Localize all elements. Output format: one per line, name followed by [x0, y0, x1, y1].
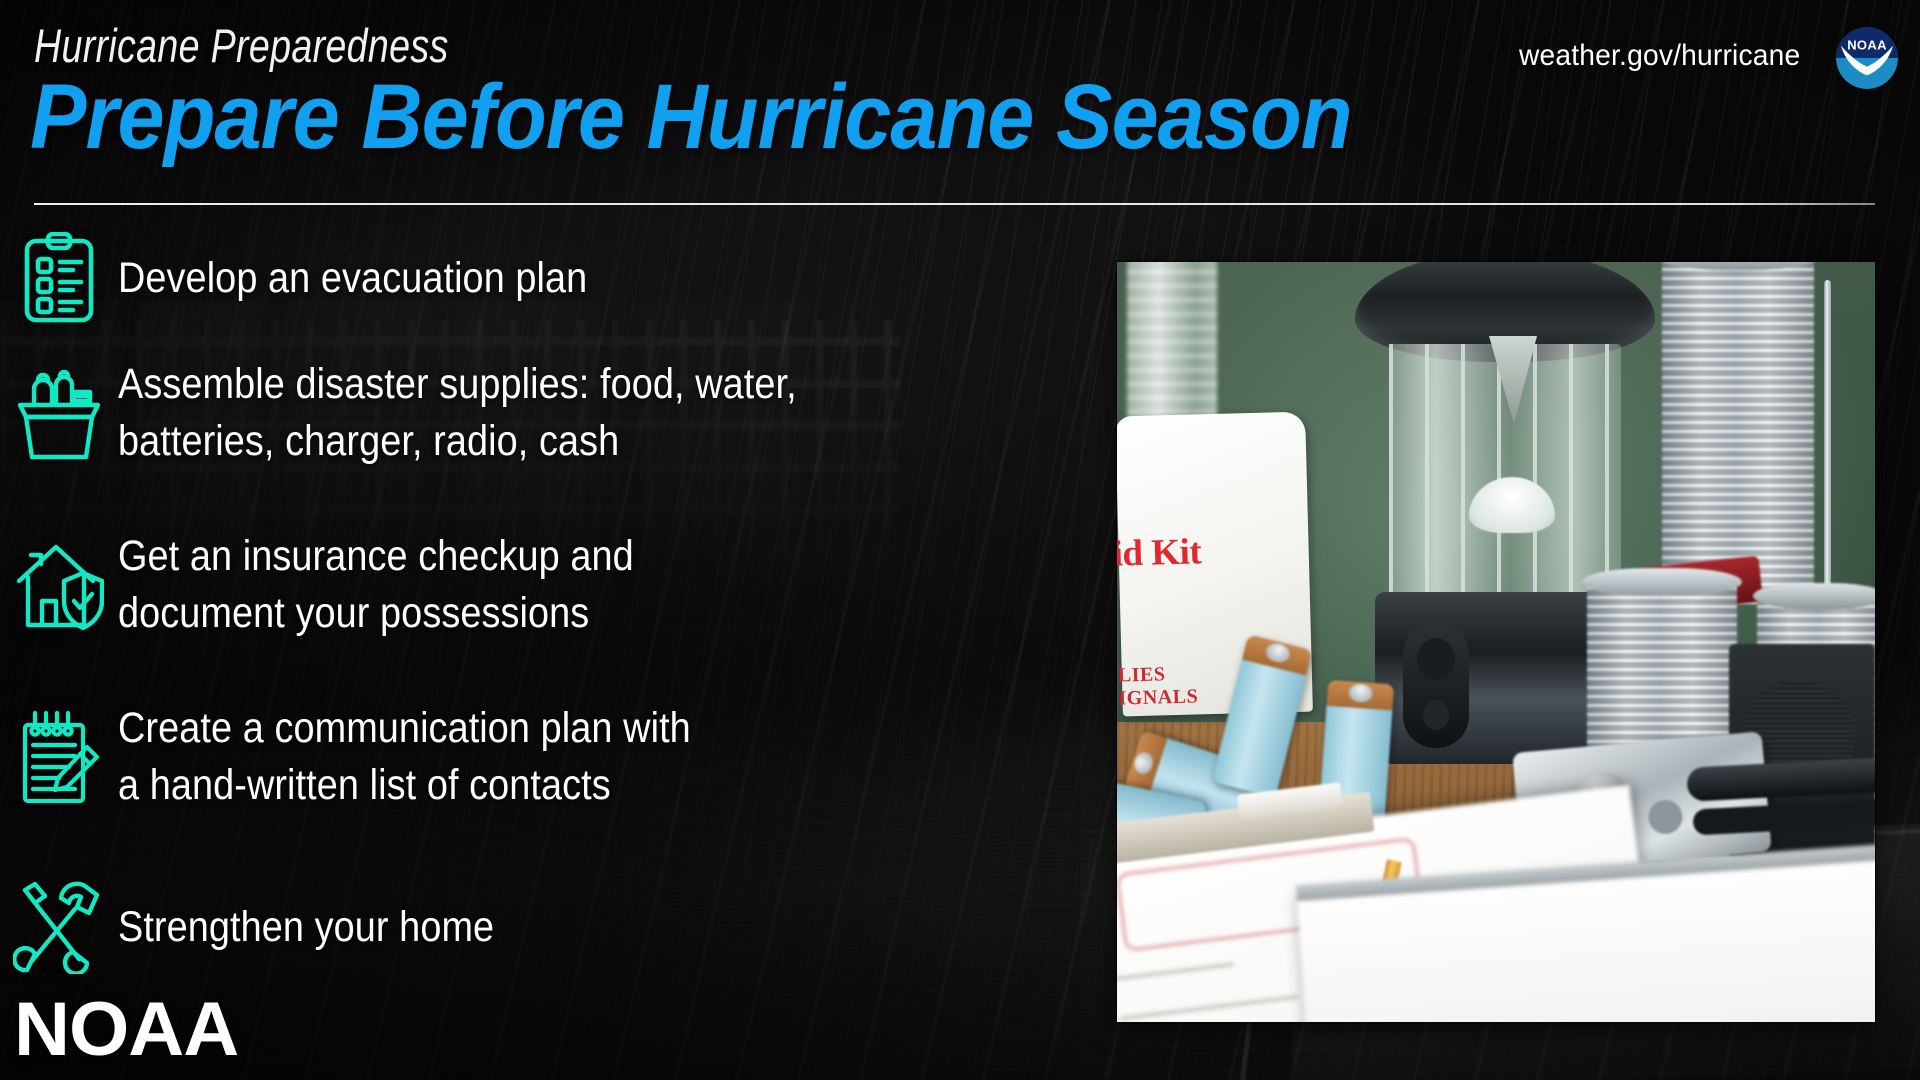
list-item: Get an insurance checkup and document yo… — [0, 528, 1080, 642]
noaa-logo[interactable]: NOAA — [1836, 27, 1898, 89]
eyebrow-title: Hurricane Preparedness — [34, 22, 449, 69]
photo-checklist-line — [1120, 995, 1299, 1021]
header-divider — [34, 203, 1875, 205]
clipboard-checklist-icon — [0, 232, 118, 324]
photo-checklist-line — [1117, 962, 1234, 981]
photo-canned-food-1 — [1662, 262, 1814, 604]
list-item: Create a communication plan with a hand-… — [0, 700, 1080, 814]
house-shield-icon — [0, 539, 118, 631]
hammer-screwdriver-icon — [0, 880, 118, 974]
noaa-wordmark: NOAA — [14, 992, 238, 1068]
notepad-pencil-icon — [0, 709, 118, 805]
list-item-label: Assemble disaster supplies: food, water,… — [118, 356, 965, 470]
list-item: Develop an evacuation plan — [0, 232, 1080, 324]
infographic-canvas: Hurricane Preparedness Prepare Before Hu… — [0, 0, 1920, 1080]
svg-text:NOAA: NOAA — [1847, 37, 1887, 52]
photo-first-aid-label: id Kit — [1117, 530, 1202, 575]
emergency-supplies-photo: id Kit LIES IGNALS — [1117, 262, 1875, 1022]
list-item: Assemble disaster supplies: food, water,… — [0, 356, 1080, 470]
list-item-label: Create a communication plan with a hand-… — [118, 700, 965, 814]
website-url[interactable]: weather.gov/hurricane — [1519, 41, 1800, 71]
list-item-label: Develop an evacuation plan — [118, 250, 965, 307]
page-title: Prepare Before Hurricane Season — [30, 71, 1352, 163]
photo-first-aid-sublabel: LIES IGNALS — [1118, 662, 1199, 710]
supply-basket-icon — [0, 365, 118, 461]
photo-white-tray — [1297, 855, 1875, 1022]
list-item-label: Get an insurance checkup and document yo… — [118, 528, 965, 642]
list-item-label: Strengthen your home — [118, 899, 965, 956]
photo-lantern-knob — [1403, 622, 1469, 748]
list-item: Strengthen your home — [0, 880, 1080, 974]
